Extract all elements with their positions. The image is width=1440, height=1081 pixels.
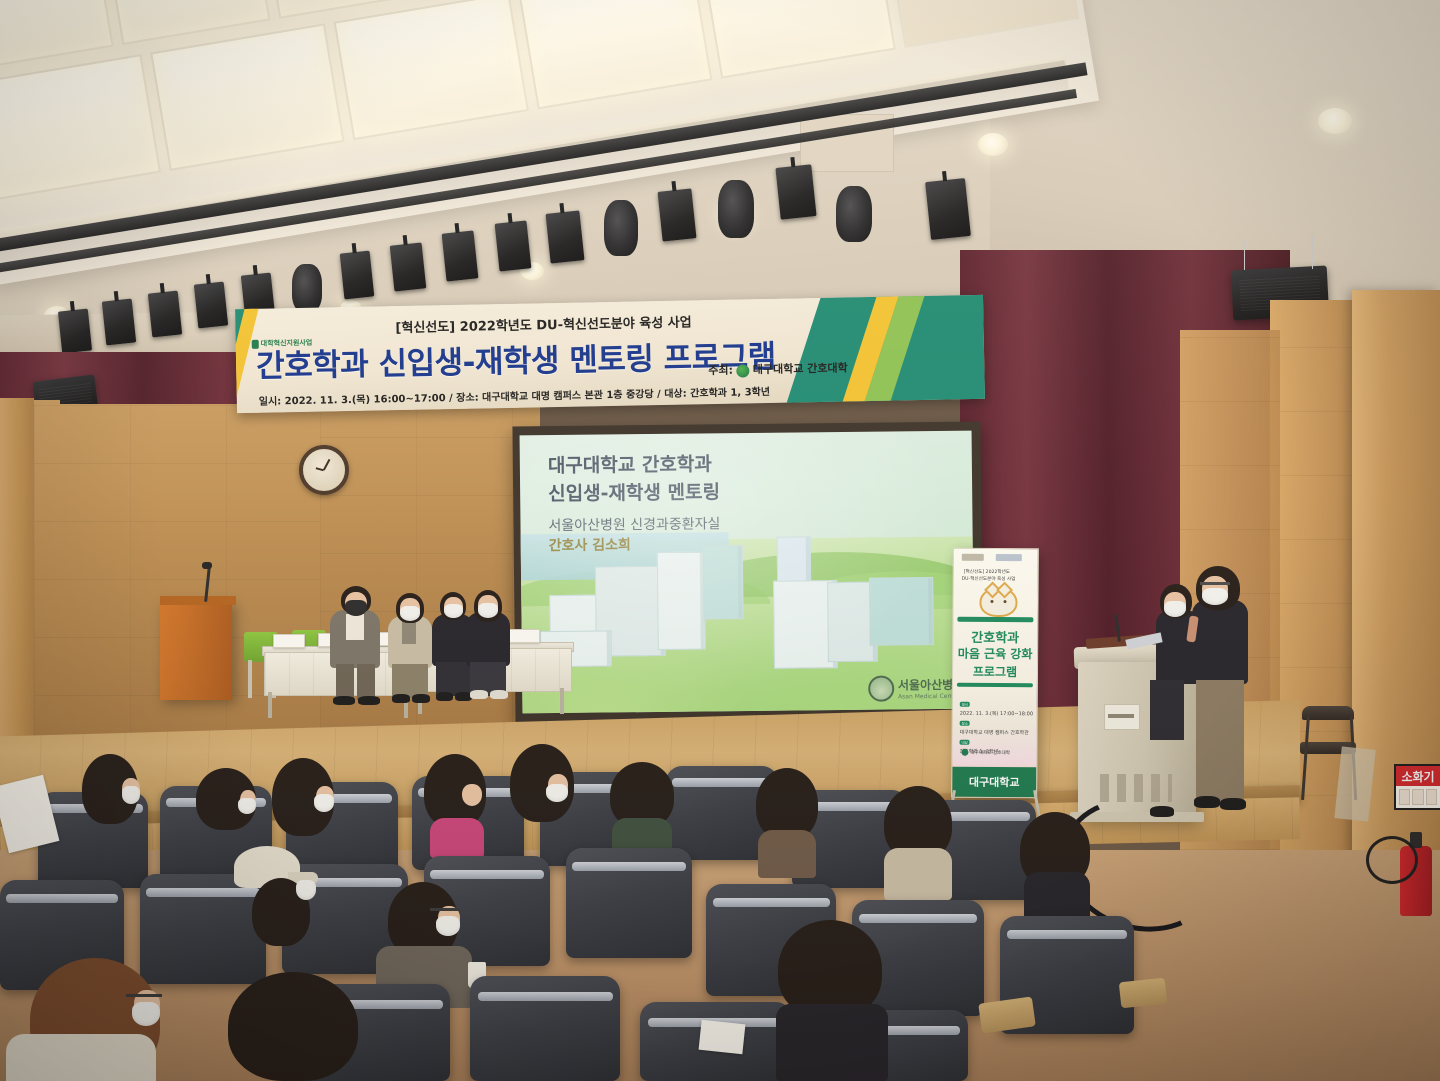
skylight-panel xyxy=(701,0,896,79)
stage-light-icon xyxy=(148,291,182,338)
banner-host: 주최: 대구대학교 간호대학 xyxy=(708,359,848,378)
name-card xyxy=(508,629,540,643)
slide-building xyxy=(869,577,934,646)
projection-screen: 대구대학교 간호학과 신입생-재학생 멘토링 서울아산병원 신경과중환자실 간호… xyxy=(520,431,975,714)
face-mask xyxy=(400,606,420,621)
back-wall-wood xyxy=(34,404,334,754)
stage-light-icon xyxy=(545,210,584,263)
banner-title: 간호학과 신입생-재학생 멘토링 프로그램 xyxy=(256,331,776,386)
stage-light-icon xyxy=(194,282,228,329)
skylight-panel xyxy=(885,0,1080,48)
slide-title-line2: 신입생-재학생 멘토링 xyxy=(548,477,720,506)
slide-title-line1: 대구대학교 간호학과 xyxy=(548,449,712,478)
asan-logo-mark-icon xyxy=(868,675,894,701)
face-mask xyxy=(314,794,334,812)
face-mask xyxy=(546,784,568,802)
xbanner-host: 대구대학교 간호대학 xyxy=(961,749,1010,756)
face-mask xyxy=(1202,588,1228,605)
wooden-lectern[interactable] xyxy=(160,600,232,700)
xbanner-top-line1: [혁신선도] 2022학년도 xyxy=(964,569,1010,575)
xbanner-meta-tag: 일시 xyxy=(960,702,970,707)
stage-light-icon xyxy=(58,309,92,354)
banner-host-name: 대구대학교 간호대학 xyxy=(753,361,848,376)
skylight-panel xyxy=(150,23,345,171)
xbanner-top-line2: DU-혁신선도분야 육성 사업 xyxy=(962,576,1016,582)
eyeglasses-icon xyxy=(126,994,162,997)
speaker-wire xyxy=(1244,240,1245,270)
xbanner-divider xyxy=(957,683,1033,688)
face-mask xyxy=(296,880,316,900)
xbanner-footer: 대구대학교 xyxy=(952,767,1036,798)
eyeglasses-icon xyxy=(430,908,460,911)
skylight-panel xyxy=(334,0,529,140)
banner-details: 일시: 2022. 11. 3.(목) 16:00~17:00 / 장소: 대구… xyxy=(259,383,770,408)
extinguisher-hose xyxy=(1366,836,1418,884)
face-mask xyxy=(478,603,498,618)
wall-clock-icon xyxy=(299,445,349,495)
xbanner-logos xyxy=(962,554,1022,561)
face-mask xyxy=(122,786,140,804)
seat-armrest xyxy=(1119,978,1167,1009)
slide-building xyxy=(657,551,706,649)
podium-handle xyxy=(1108,714,1134,718)
lectern-top xyxy=(160,596,236,605)
table-leg xyxy=(560,688,564,714)
face-mask xyxy=(345,600,367,616)
skylight-panel xyxy=(0,54,161,202)
banner-host-label: 주최: xyxy=(708,364,733,377)
slide-building xyxy=(703,545,744,619)
auditorium-photo: 대학혁신지원사업 [혁신선도] 2022학년도 DU-혁신선도분야 육성 사업 … xyxy=(0,0,1440,1081)
face-mask xyxy=(436,916,460,936)
host-logo-icon xyxy=(961,749,968,756)
asan-medical-logo: 서울아산병원 Asan Medical Center xyxy=(868,675,965,702)
name-card xyxy=(273,634,305,648)
stage-light-icon xyxy=(925,178,971,240)
mascot-cat-icon xyxy=(979,587,1017,617)
audience-seat[interactable] xyxy=(470,976,620,1081)
downlight-icon xyxy=(1318,108,1352,134)
xbanner-title-line1: 간호학과 xyxy=(953,627,1037,647)
standing-x-banner: [혁신선도] 2022학년도 DU-혁신선도분야 육성 사업 간호학과 마음 근… xyxy=(951,548,1039,799)
face-mask xyxy=(132,1002,160,1026)
xbanner-host-text: 대구대학교 간호대학 xyxy=(970,749,1010,755)
stage-light-icon xyxy=(390,242,427,291)
audience-seat[interactable] xyxy=(140,874,266,984)
stage-light-icon xyxy=(775,164,816,219)
slide-speaker: 간호사 김소희 xyxy=(549,534,631,555)
stage-light-icon xyxy=(102,299,136,346)
xbanner-title-line2: 마음 근육 강화 xyxy=(953,645,1037,663)
xbanner-meta-tag: 대상 xyxy=(959,740,969,745)
audience-seat[interactable] xyxy=(566,848,692,958)
wall-column-left xyxy=(0,398,34,768)
face-mask xyxy=(238,798,256,814)
eyeglasses-icon xyxy=(1200,582,1230,585)
fleece-jacket xyxy=(6,1034,156,1081)
speaker-wire xyxy=(1312,235,1313,269)
fire-extinguisher-sign: 소화기 xyxy=(1394,764,1440,810)
host-logo-icon xyxy=(737,364,750,377)
xbanner-meta-tag: 장소 xyxy=(960,721,970,726)
event-banner: 대학혁신지원사업 [혁신선도] 2022학년도 DU-혁신선도분야 육성 사업 … xyxy=(235,295,985,413)
chair-leg xyxy=(248,660,252,698)
stage-light-icon xyxy=(495,220,532,271)
stage-light-icon xyxy=(657,188,696,241)
stage-light-icon xyxy=(340,251,375,300)
fire-extinguisher-label: 소화기 xyxy=(1396,766,1440,786)
table-leg xyxy=(268,692,272,718)
handout-paper xyxy=(699,1020,746,1054)
stage-light-icon xyxy=(836,186,872,242)
xbanner-divider xyxy=(957,617,1033,623)
slide-subtitle: 서울아산병원 신경과중환자실 xyxy=(548,513,720,535)
skylight-panel xyxy=(518,0,713,109)
stage-light-icon xyxy=(292,264,322,312)
stage-light-icon xyxy=(442,230,479,281)
stage-light-icon xyxy=(718,180,754,238)
face-mask xyxy=(1164,601,1186,617)
face-mask xyxy=(444,604,463,618)
microphone-head-icon xyxy=(202,562,212,569)
projection-screen-frame: 대구대학교 간호학과 신입생-재학생 멘토링 서울아산병원 신경과중환자실 간호… xyxy=(512,422,983,723)
downlight-icon xyxy=(978,133,1008,156)
xbanner-title-line3: 프로그램 xyxy=(953,663,1037,681)
stage-light-icon xyxy=(604,200,638,256)
